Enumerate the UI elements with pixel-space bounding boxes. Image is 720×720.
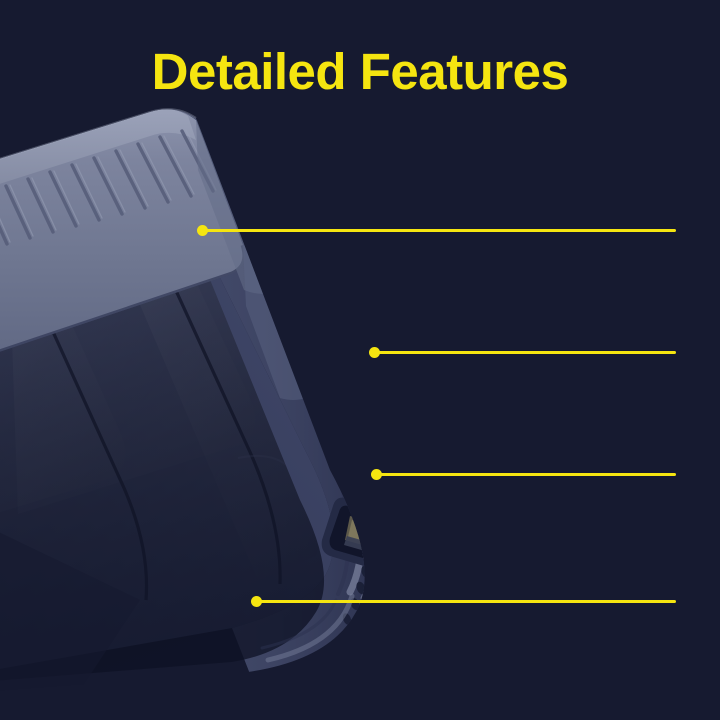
callout-leader-line bbox=[256, 600, 676, 603]
callout-anchor-dot bbox=[251, 596, 262, 607]
callout-anchor-dot bbox=[197, 225, 208, 236]
callout-leader-line bbox=[202, 229, 676, 232]
product-image-phone-case bbox=[0, 0, 720, 720]
callout-anchor-dot bbox=[369, 347, 380, 358]
page-title: Detailed Features bbox=[0, 46, 720, 97]
callout-leader-line bbox=[374, 351, 676, 354]
callout-leader-line bbox=[376, 473, 676, 476]
product-feature-infographic: Detailed Features Superior Grip Raised S… bbox=[0, 0, 720, 720]
callout-anchor-dot bbox=[371, 469, 382, 480]
